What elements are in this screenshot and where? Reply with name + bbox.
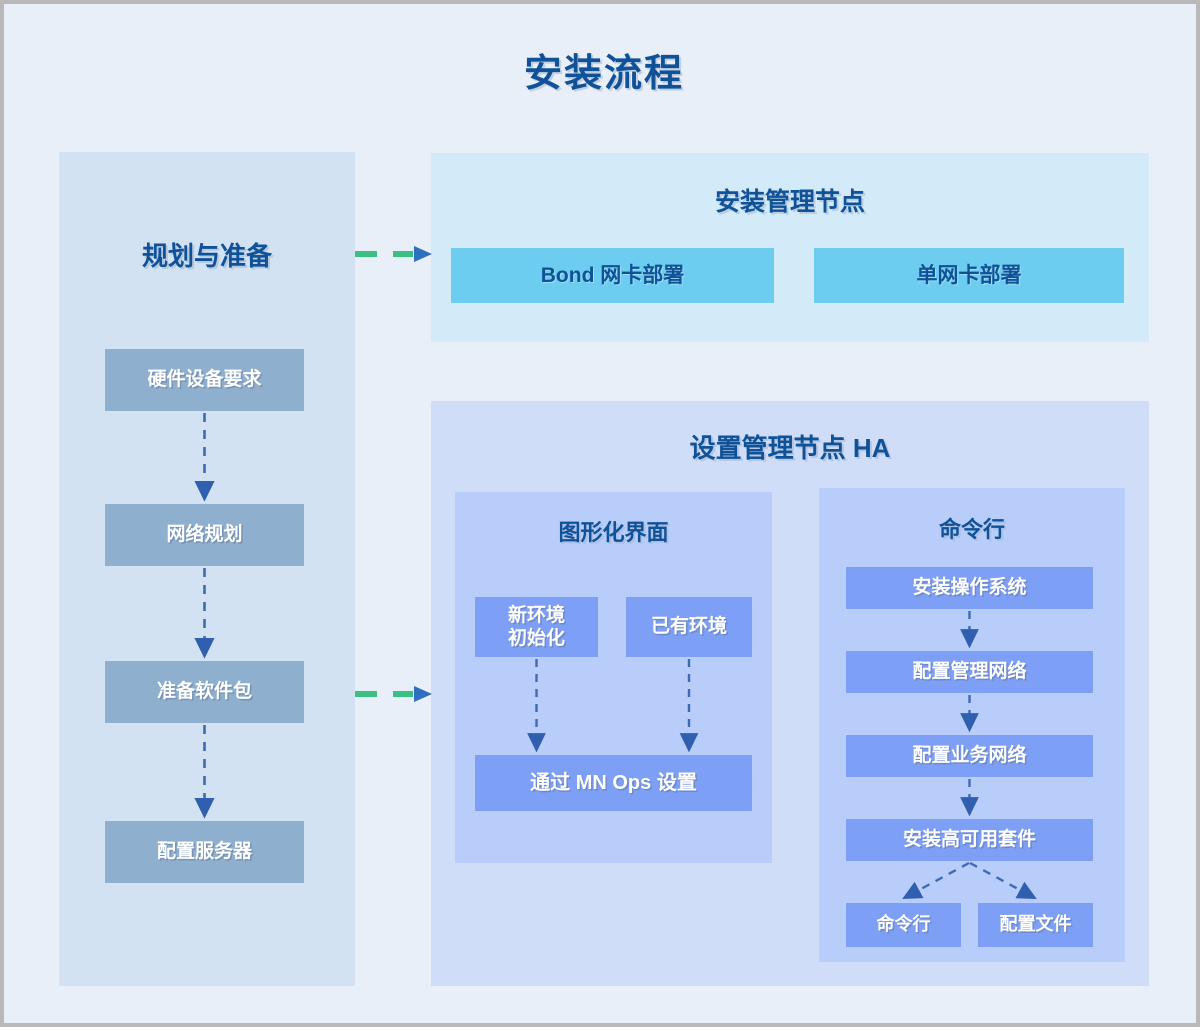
option-bond-nic-deploy[interactable]: Bond 网卡部署 xyxy=(451,248,774,303)
option-single-nic-deploy[interactable]: 单网卡部署 xyxy=(814,248,1124,303)
install-management-node-title: 安装管理节点 xyxy=(431,182,1149,218)
cli-step-install-ha-suite[interactable]: 安装高可用套件 xyxy=(846,819,1093,861)
setup-ha-title: 设置管理节点 HA xyxy=(431,428,1149,465)
green-connector-to-ha-arrowhead xyxy=(414,686,432,702)
page-title: 安装流程 xyxy=(4,42,1200,97)
cli-step-configure-mgmt-network[interactable]: 配置管理网络 xyxy=(846,651,1093,693)
planning-panel-title: 规划与准备 xyxy=(59,236,355,273)
gui-subpanel-title: 图形化界面 xyxy=(455,515,772,547)
step-hardware-requirements[interactable]: 硬件设备要求 xyxy=(105,349,304,411)
cli-branch-config-file[interactable]: 配置文件 xyxy=(978,903,1093,947)
step-network-planning[interactable]: 网络规划 xyxy=(105,504,304,566)
gui-existing-environment[interactable]: 已有环境 xyxy=(626,597,752,657)
cli-subpanel-title: 命令行 xyxy=(819,512,1125,544)
step-prepare-packages[interactable]: 准备软件包 xyxy=(105,661,304,723)
cli-subpanel xyxy=(819,488,1125,962)
gui-setup-via-mn-ops[interactable]: 通过 MN Ops 设置 xyxy=(475,755,752,811)
gui-new-environment-init[interactable]: 新环境 初始化 xyxy=(475,597,598,657)
green-connector-to-install-arrowhead xyxy=(414,246,432,262)
cli-branch-command-line[interactable]: 命令行 xyxy=(846,903,961,947)
cli-step-install-os[interactable]: 安装操作系统 xyxy=(846,567,1093,609)
step-configure-server[interactable]: 配置服务器 xyxy=(105,821,304,883)
diagram-canvas: 安装流程 规划与准备 硬件设备要求 网络规划 准备软件包 配置服务器 安装管理节… xyxy=(0,0,1200,1027)
cli-step-configure-biz-network[interactable]: 配置业务网络 xyxy=(846,735,1093,777)
